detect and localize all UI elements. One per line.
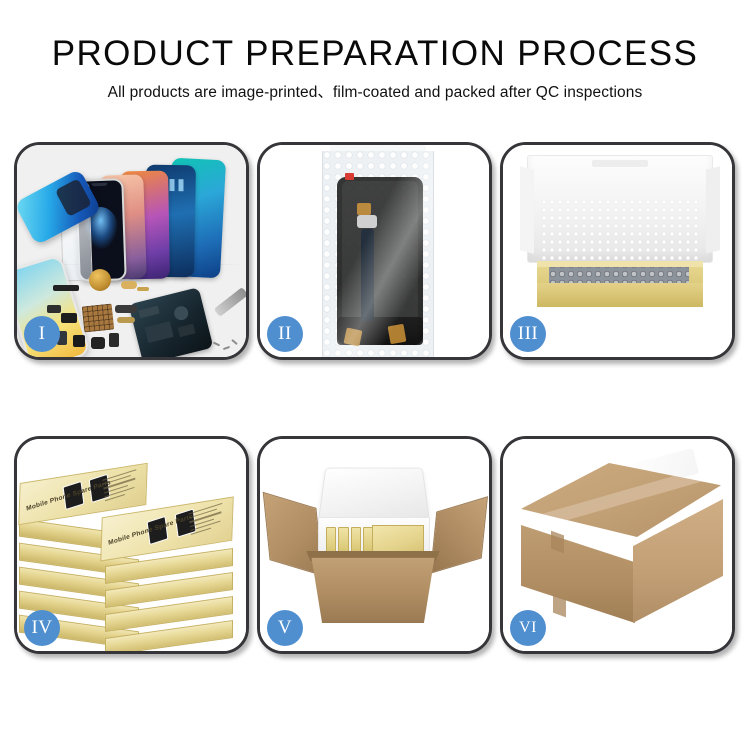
part-gold-flex-icon (137, 287, 149, 291)
gold-contact-right-icon (388, 324, 407, 345)
part-button-icon (109, 333, 119, 347)
step-badge-4: IV (24, 610, 60, 646)
process-step-card-5[interactable]: V (257, 436, 492, 654)
chip-grid-icon (82, 304, 115, 333)
foam-sheet-icon (541, 199, 699, 269)
part-vibrator-icon (91, 337, 105, 349)
process-step-card-4[interactable]: Mobile Phone Spare Parts Mobile Phone Sp… (14, 436, 249, 654)
phone-housing-icon (129, 287, 214, 357)
step-badge-6: VI (510, 610, 546, 646)
gold-contact-top-icon (357, 203, 371, 215)
product-preparation-infographic: PRODUCT PREPARATION PROCESS All products… (0, 0, 750, 750)
step-badge-3: III (510, 316, 546, 352)
part-camera-icon (73, 335, 85, 347)
box-spec-lines (102, 469, 141, 507)
gold-contact-left-icon (344, 328, 363, 347)
box-spec-lines (188, 502, 227, 540)
speaker-coil-icon (89, 269, 111, 291)
part-strip-icon (53, 285, 79, 291)
carton-flap-right-icon (430, 496, 488, 574)
carton-hand-hole-bottom-icon (553, 595, 566, 618)
part-black-module-icon (61, 313, 77, 323)
process-step-card-2[interactable]: II (257, 142, 492, 360)
styrofoam-lid-icon (318, 468, 430, 520)
bubble-wrap-bag-icon (322, 151, 434, 357)
tray-lip-icon (537, 261, 703, 267)
part-gold-connector-icon (121, 281, 137, 289)
step-badge-5: V (267, 610, 303, 646)
flex-cable-icon (361, 229, 374, 321)
screws-icon (213, 341, 239, 353)
page-title: PRODUCT PREPARATION PROCESS (0, 34, 750, 74)
process-step-card-6[interactable]: VI (500, 436, 735, 654)
lid-tab-icon (592, 160, 648, 167)
part-small-chip-icon (47, 305, 61, 313)
process-step-grid: I (14, 142, 736, 654)
part-gold-cable-icon (117, 317, 135, 323)
tray-front-icon (537, 283, 703, 307)
page-subtitle: All products are image-printed、film-coat… (0, 83, 750, 103)
part-flex-cable-icon (115, 305, 137, 313)
carton-left-face-icon (521, 525, 635, 623)
process-step-card-3[interactable]: III (500, 142, 735, 360)
tweezers-icon (214, 287, 246, 317)
connector-icon (357, 215, 377, 228)
carton-body-icon (306, 557, 440, 623)
red-label-icon (345, 173, 354, 180)
process-step-card-1[interactable]: I (14, 142, 249, 360)
step-badge-1: I (24, 316, 60, 352)
header: PRODUCT PREPARATION PROCESS All products… (0, 0, 750, 103)
step-badge-2: II (267, 316, 303, 352)
